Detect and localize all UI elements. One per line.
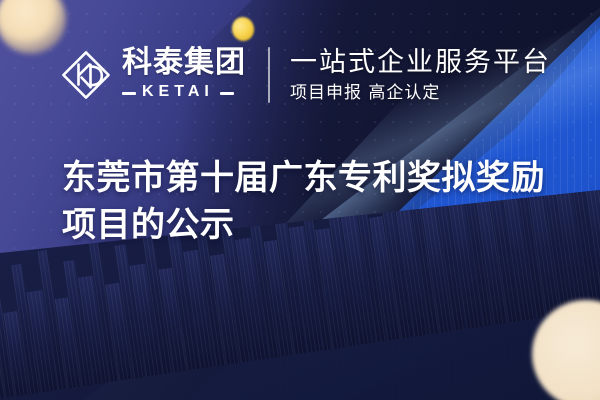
- brand-name-cn: 科泰集团: [122, 48, 246, 78]
- slogan-main: 一站式企业服务平台: [290, 48, 551, 78]
- promo-banner: 科泰集团 KETAI 一站式企业服务平台 项目申报 高企认定 东莞市第十届广东专…: [0, 0, 600, 400]
- slogan-block: 一站式企业服务平台 项目申报 高企认定: [290, 48, 551, 102]
- brand-name-en: KETAI: [142, 83, 214, 101]
- brand-wordmark: 科泰集团 KETAI: [122, 48, 246, 102]
- dash-left-icon: [122, 92, 136, 95]
- slogan-sub: 项目申报 高企认定: [290, 85, 551, 102]
- banner-headline: 东莞市第十届广东专利奖拟奖励项目的公示: [62, 155, 552, 249]
- dash-right-icon: [220, 92, 234, 95]
- brand-header: 科泰集团 KETAI 一站式企业服务平台 项目申报 高企认定: [60, 42, 551, 108]
- brand-name-en-row: KETAI: [122, 84, 246, 102]
- ketai-logo-mark-icon: [60, 49, 112, 101]
- vertical-divider: [268, 47, 270, 103]
